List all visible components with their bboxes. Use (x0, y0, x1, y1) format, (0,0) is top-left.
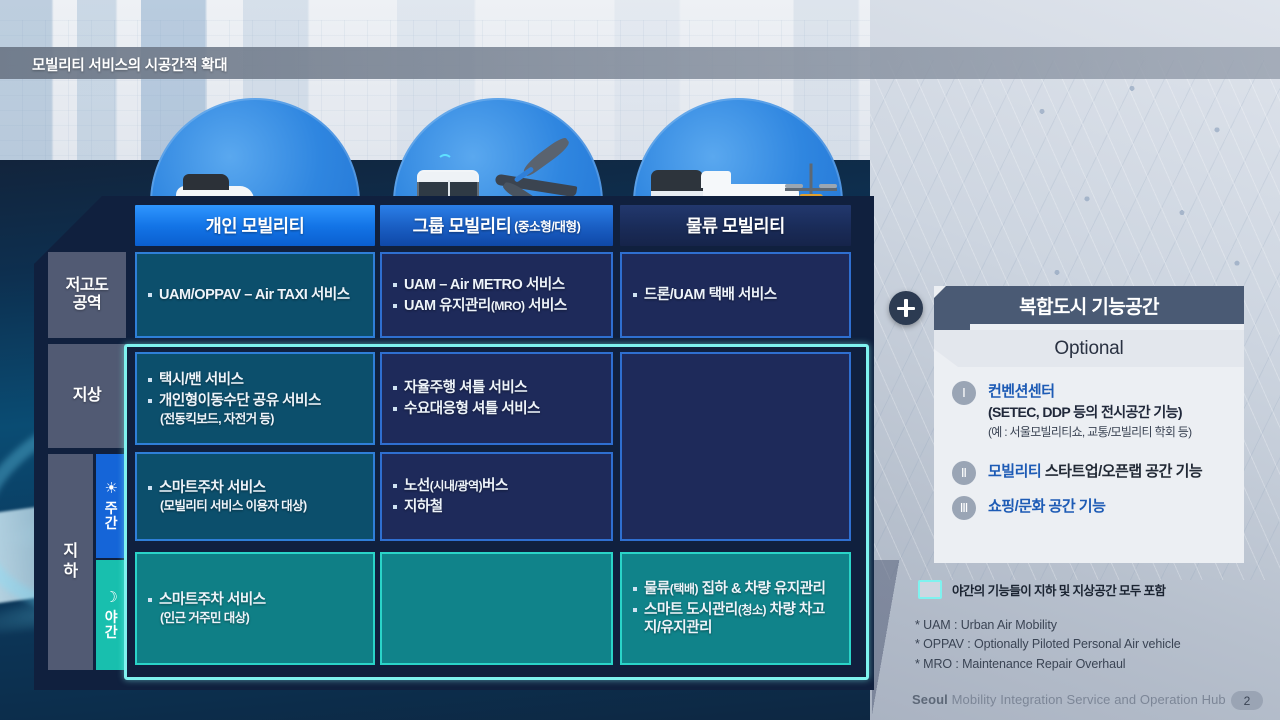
list-item: 스마트주차 서비스 (인근 거주민 대상) (148, 591, 363, 626)
list-item-text: UAM – Air METRO 서비스 (404, 277, 565, 293)
optional-item-2-plain: 스타트업/오픈랩 공간 기능 (1041, 463, 1202, 480)
optional-item-1-line3: (예 : 서울모빌리티쇼, 교통/모빌리티 학회 등) (988, 423, 1238, 440)
list-item-inline: (시내/광역) (430, 479, 482, 493)
optional-item-1-highlight: 컨벤션센터 (988, 383, 1055, 400)
time-band-day: ☀ 주 간 (96, 454, 126, 558)
list-item-text: 개인형이동수단 공유 서비스 (159, 393, 321, 409)
optional-item-1-title: 컨벤션센터 (988, 380, 1238, 401)
list-item-inline: (MRO) (491, 299, 525, 313)
optional-item-3[interactable]: Ⅲ 쇼핑/문화 공간 기능 (952, 495, 1238, 516)
optional-item-1-line2: (SETEC, DDP 등의 전시공간 기능) (988, 402, 1238, 422)
list-item: 스마트주차 서비스 (모빌리티 서비스 이용자 대상) (148, 479, 363, 514)
column-header-group: 그룹 모빌리티 (중소형/대형) (380, 205, 613, 246)
legend-swatch-icon (918, 580, 942, 599)
footnotes: * UAM : Urban Air Mobility * OPPAV : Opt… (915, 616, 1181, 674)
list-item: 수요대응형 셔틀 서비스 (393, 400, 601, 419)
title-bar: 모빌리티 서비스의 시공간적 확대 (0, 47, 1280, 79)
list-item-tail: 서비스 (525, 298, 567, 314)
footnote-oppav: * OPPAV : Optionally Piloted Personal Ai… (915, 635, 1181, 654)
list-item-inline: (청소) (738, 603, 766, 617)
page-title: 모빌리티 서비스의 시공간적 확대 (32, 54, 227, 75)
row-label-underground-text: 지 하 (63, 542, 77, 582)
list-item: 개인형이동수단 공유 서비스 (전동킥보드, 자전거 등) (148, 392, 363, 427)
cell-group-underground-day[interactable]: 노선(시내/광역)버스 지하철 (380, 452, 613, 541)
list-item-text: 스마트주차 서비스 (159, 592, 266, 608)
cell-logistics-middle-empty[interactable] (620, 352, 851, 541)
cell-logistics-underground-night[interactable]: 물류(택배) 집하 & 차량 유지관리 스마트 도시관리(청소) 차량 차고지/… (620, 552, 851, 665)
list-item-text: 택시/밴 서비스 (159, 372, 244, 388)
moon-icon: ☽ (105, 590, 118, 605)
time-band-night: ☽ 야 간 (96, 560, 126, 670)
optional-item-3-highlight: 쇼핑/문화 공간 기능 (988, 498, 1105, 515)
list-item-tail: 집하 & 차량 유지관리 (698, 581, 825, 597)
optional-panel-subtitle: Optional (1054, 338, 1123, 360)
list-item-text: 노선 (404, 478, 430, 494)
cell-group-air[interactable]: UAM – Air METRO 서비스 UAM 유지관리(MRO) 서비스 (380, 252, 613, 338)
footer-text: Seoul Mobility Integration Service and O… (912, 692, 1226, 707)
optional-item-1-number: Ⅰ (952, 381, 976, 405)
row-label-ground: 지상 (48, 344, 126, 448)
list-item: 드론/UAM 택배 서비스 (633, 286, 839, 305)
list-item-text: 수요대응형 셔틀 서비스 (404, 401, 540, 417)
list-item: 택시/밴 서비스 (148, 371, 363, 390)
background-network-dots (1012, 70, 1262, 300)
row-label-low-altitude-text: 저고도 공역 (66, 277, 109, 314)
optional-item-2-title: 모빌리티 스타트업/오픈랩 공간 기능 (988, 460, 1238, 481)
list-item: 스마트 도시관리(청소) 차량 차고지/유지관리 (633, 601, 839, 639)
cell-group-underground-night[interactable] (380, 552, 613, 665)
column-header-group-label: 그룹 모빌리티 (413, 213, 512, 238)
cell-group-ground[interactable]: 자율주행 셔틀 서비스 수요대응형 셔틀 서비스 (380, 352, 613, 445)
list-item: 노선(시내/광역)버스 (393, 477, 601, 496)
footnote-uam: * UAM : Urban Air Mobility (915, 616, 1181, 635)
list-item-tail: 버스 (482, 478, 508, 494)
list-item: UAM/OPPAV – Air TAXI 서비스 (148, 286, 363, 305)
cell-logistics-air[interactable]: 드론/UAM 택배 서비스 (620, 252, 851, 338)
time-band-day-label: 주 간 (105, 501, 117, 530)
cell-personal-ground[interactable]: 택시/밴 서비스 개인형이동수단 공유 서비스 (전동킥보드, 자전거 등) (135, 352, 375, 445)
sun-icon: ☀ (105, 481, 118, 496)
list-item-inline: (택배) (670, 582, 698, 596)
optional-item-2-highlight: 모빌리티 (988, 463, 1041, 480)
optional-panel-title: 복합도시 기능공간 (1019, 292, 1159, 319)
list-item: 자율주행 셔틀 서비스 (393, 379, 601, 398)
list-item-text: UAM 유지관리 (404, 298, 491, 314)
list-item-text: 지하철 (404, 499, 443, 515)
optional-item-3-title: 쇼핑/문화 공간 기능 (988, 495, 1238, 516)
column-header-logistics: 물류 모빌리티 (620, 205, 851, 246)
row-label-underground: 지 하 (48, 454, 93, 670)
column-header-personal-label: 개인 모빌리티 (206, 213, 305, 238)
page-number-badge: 2 (1231, 691, 1263, 710)
footnote-mro: * MRO : Maintenance Repair Overhaul (915, 655, 1181, 674)
list-item-text: 물류 (644, 581, 670, 597)
signal-wave-icon (437, 154, 453, 170)
list-item-text: UAM/OPPAV – Air TAXI 서비스 (159, 287, 350, 303)
cell-personal-underground-day[interactable]: 스마트주차 서비스 (모빌리티 서비스 이용자 대상) (135, 452, 375, 541)
optional-panel-notch (934, 324, 970, 330)
row-label-ground-text: 지상 (73, 387, 101, 405)
column-header-personal: 개인 모빌리티 (135, 205, 375, 246)
list-item-note: (모빌리티 서비스 이용자 대상) (159, 498, 363, 514)
list-item: UAM – Air METRO 서비스 (393, 276, 601, 295)
row-label-low-altitude: 저고도 공역 (48, 252, 126, 338)
legend-text: 야간의 기능들이 지하 및 지상공간 모두 포함 (952, 580, 1165, 599)
plus-icon (889, 291, 923, 325)
column-header-logistics-label: 물류 모빌리티 (686, 213, 785, 238)
optional-panel-header: 복합도시 기능공간 (934, 286, 1244, 324)
cell-personal-air[interactable]: UAM/OPPAV – Air TAXI 서비스 (135, 252, 375, 338)
list-item-text: 드론/UAM 택배 서비스 (644, 287, 777, 303)
list-item-text: 스마트주차 서비스 (159, 480, 266, 496)
optional-panel-list: Ⅰ 컨벤션센터 (SETEC, DDP 등의 전시공간 기능) (예 : 서울모… (952, 380, 1238, 529)
optional-item-2-number: Ⅱ (952, 461, 976, 485)
time-band-night-label: 야 간 (105, 610, 117, 639)
list-item: UAM 유지관리(MRO) 서비스 (393, 297, 601, 316)
optional-item-1[interactable]: Ⅰ 컨벤션센터 (SETEC, DDP 등의 전시공간 기능) (예 : 서울모… (952, 380, 1238, 440)
list-item-note: (인근 거주민 대상) (159, 610, 363, 626)
slide-canvas: 모빌리티 서비스의 시공간적 확대 (0, 0, 1280, 720)
list-item-text: 자율주행 셔틀 서비스 (404, 380, 527, 396)
list-item-text: 스마트 도시관리 (644, 602, 738, 618)
list-item-note: (전동킥보드, 자전거 등) (159, 411, 363, 427)
cell-personal-underground-night[interactable]: 스마트주차 서비스 (인근 거주민 대상) (135, 552, 375, 665)
legend: 야간의 기능들이 지하 및 지상공간 모두 포함 (918, 580, 1165, 599)
footer-subtitle: Mobility Integration Service and Operati… (952, 692, 1226, 707)
optional-item-3-number: Ⅲ (952, 496, 976, 520)
column-header-group-sub: (중소형/대형) (514, 216, 580, 235)
optional-panel-subtitle-bar: Optional (934, 330, 1244, 367)
list-item: 지하철 (393, 498, 601, 517)
list-item: 물류(택배) 집하 & 차량 유지관리 (633, 580, 839, 599)
footer-brand: Seoul (912, 692, 948, 707)
optional-item-2[interactable]: Ⅱ 모빌리티 스타트업/오픈랩 공간 기능 (952, 460, 1238, 481)
